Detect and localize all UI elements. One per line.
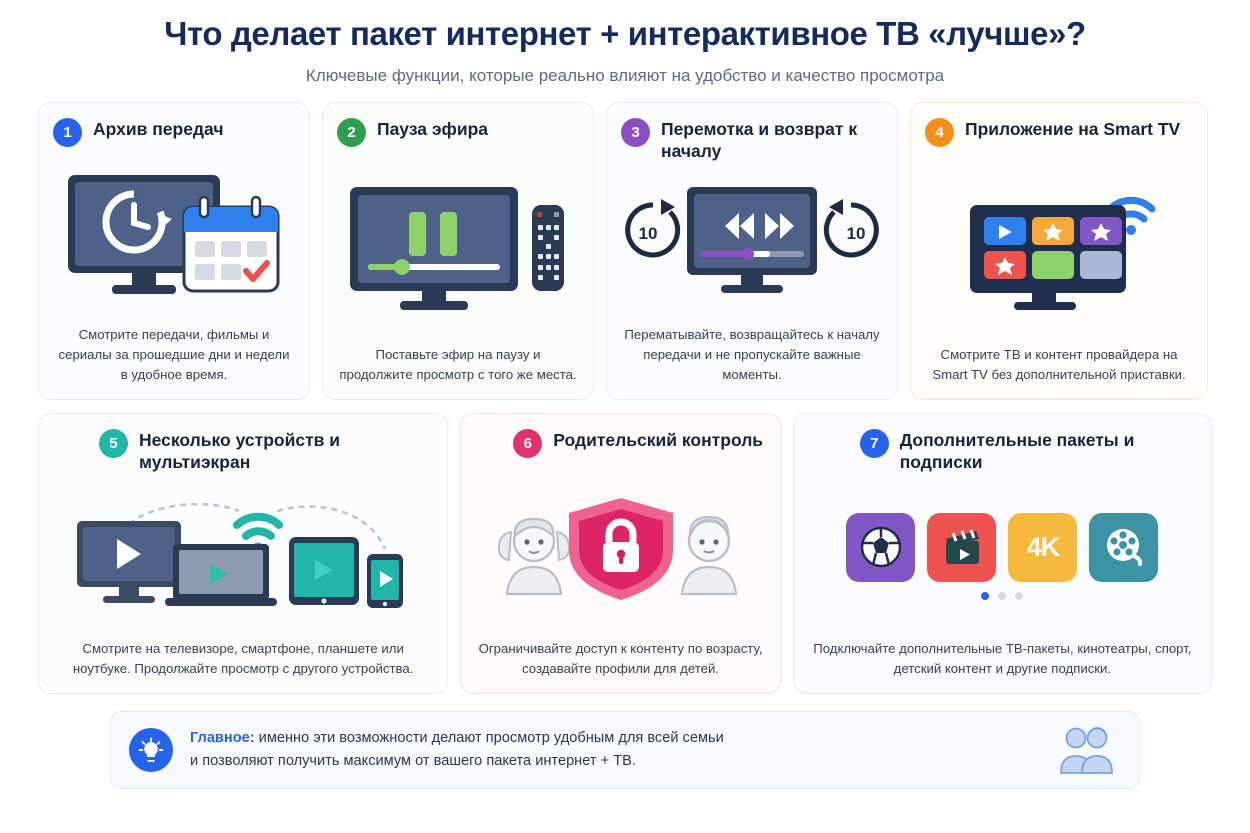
girl-avatar-icon (498, 519, 568, 594)
card-header: 7 Дополнительные пакеты и подписки (808, 428, 1197, 473)
card-title: Несколько устройств и мультиэкран (139, 428, 433, 473)
tile-cinema[interactable] (927, 513, 996, 582)
card-illustration (53, 473, 433, 639)
boy-avatar-icon (682, 517, 736, 594)
skip-forward-10-icon: 10 (826, 199, 876, 255)
card-header: 3 Перемотка и возврат к началу (621, 117, 883, 162)
summary-rest-1: именно эти возможности делают просмотр у… (255, 730, 724, 746)
skip-back-10-icon: 10 (628, 199, 678, 255)
card-description: Поставьте эфир на паузу и продолжите про… (337, 345, 579, 387)
card-illustration (475, 458, 765, 639)
football-icon (859, 525, 903, 569)
card-number-badge: 6 (513, 429, 542, 458)
tv-device-icon (77, 521, 181, 603)
page-subtitle: Ключевые функции, которые реально влияют… (0, 66, 1250, 86)
carousel-dot-3[interactable] (1015, 592, 1023, 600)
card-description: Смотрите на телевизоре, смартфоне, планш… (53, 639, 433, 681)
carousel-dot-2[interactable] (998, 592, 1006, 600)
laptop-device-icon (165, 544, 277, 606)
people-badge (1055, 725, 1117, 775)
bulb-badge (129, 728, 173, 772)
card-number-badge: 4 (925, 118, 954, 147)
card-title: Дополнительные пакеты и подписки (900, 428, 1197, 473)
summary-text: Главное: именно эти возможности делают п… (190, 727, 1038, 774)
multi-device-icon (69, 497, 417, 615)
feature-card-1[interactable]: 1 Архив передач (38, 102, 310, 400)
card-title: Пауза эфира (377, 117, 488, 140)
tile-film-reel[interactable] (1089, 513, 1158, 582)
tv-rewind-forward-icon: 10 10 (621, 185, 883, 303)
card-title: Перемотка и возврат к началу (661, 117, 883, 162)
tile-4k-label: 4K (1027, 532, 1060, 563)
tablet-device-icon (289, 537, 359, 605)
feature-card-3[interactable]: 3 Перемотка и возврат к началу 10 (606, 102, 898, 400)
phone-device-icon (367, 554, 403, 608)
summary-line-2: и позволяют получить максимум от вашего … (190, 753, 636, 769)
card-title: Приложение на Smart TV (965, 117, 1180, 140)
summary-line-1: Главное: именно эти возможности делают п… (190, 730, 724, 746)
shield-lock-icon (569, 498, 673, 600)
tile-football[interactable] (846, 513, 915, 582)
svg-text:10: 10 (847, 224, 866, 243)
card-title: Архив передач (93, 117, 224, 140)
card-header: 1 Архив передач (53, 117, 295, 147)
card-title: Родительский контроль (553, 428, 763, 451)
card-header: 2 Пауза эфира (337, 117, 579, 147)
feature-card-5[interactable]: 5 Несколько устройств и мультиэкран (38, 413, 448, 694)
card-description: Перематывайте, возвращайтесь к началу пе… (621, 325, 883, 387)
two-people-icon (1057, 725, 1115, 775)
card-number-badge: 7 (860, 429, 889, 458)
tv-clock-calendar-icon (64, 169, 284, 304)
card-description: Смотрите передачи, фильмы и сериалы за п… (53, 325, 295, 387)
features-row-bottom: 5 Несколько устройств и мультиэкран (0, 413, 1250, 694)
tv-pause-remote-icon (346, 179, 571, 314)
card-illustration: 4K (808, 473, 1197, 639)
summary-banner: Главное: именно эти возможности делают п… (110, 711, 1140, 789)
card-description: Смотрите ТВ и контент провайдера на Smar… (925, 345, 1193, 387)
tile-4k[interactable]: 4K (1008, 513, 1077, 582)
smart-tv-apps-icon (942, 179, 1177, 314)
card-header: 4 Приложение на Smart TV (925, 117, 1193, 147)
card-illustration: 10 10 (621, 162, 883, 325)
film-reel-icon (1102, 525, 1146, 569)
summary-lead: Главное: (190, 730, 255, 746)
card-illustration (53, 147, 295, 325)
page-header: Что делает пакет интернет + интерактивно… (0, 0, 1250, 86)
card-number-badge: 1 (53, 118, 82, 147)
svg-text:10: 10 (639, 224, 658, 243)
clapperboard-icon (940, 525, 984, 569)
feature-card-4[interactable]: 4 Приложение на Smart TV (910, 102, 1208, 400)
card-number-badge: 5 (99, 429, 128, 458)
carousel-dots[interactable] (981, 592, 1023, 600)
page-title: Что делает пакет интернет + интерактивно… (0, 16, 1250, 52)
card-illustration (925, 147, 1193, 345)
card-number-badge: 2 (337, 118, 366, 147)
card-illustration (337, 147, 579, 345)
card-number-badge: 3 (621, 118, 650, 147)
feature-card-7[interactable]: 7 Дополнительные пакеты и подписки (793, 413, 1212, 694)
card-description: Подключайте дополнительные ТВ-пакеты, ки… (808, 639, 1197, 681)
card-description: Ограничивайте доступ к контенту по возра… (475, 639, 765, 681)
shield-lock-kids-icon (487, 494, 755, 604)
features-row-top: 1 Архив передач (0, 102, 1250, 400)
card-header: 6 Родительский контроль (475, 428, 765, 458)
carousel-dot-1[interactable] (981, 592, 989, 600)
feature-card-2[interactable]: 2 Пауза эфира (322, 102, 594, 400)
card-header: 5 Несколько устройств и мультиэкран (53, 428, 433, 473)
summary-banner-wrap: Главное: именно эти возможности делают п… (0, 711, 1250, 789)
feature-card-6[interactable]: 6 Родительский контроль (460, 413, 780, 694)
lightbulb-icon (138, 737, 164, 763)
content-tiles: 4K (846, 513, 1158, 582)
